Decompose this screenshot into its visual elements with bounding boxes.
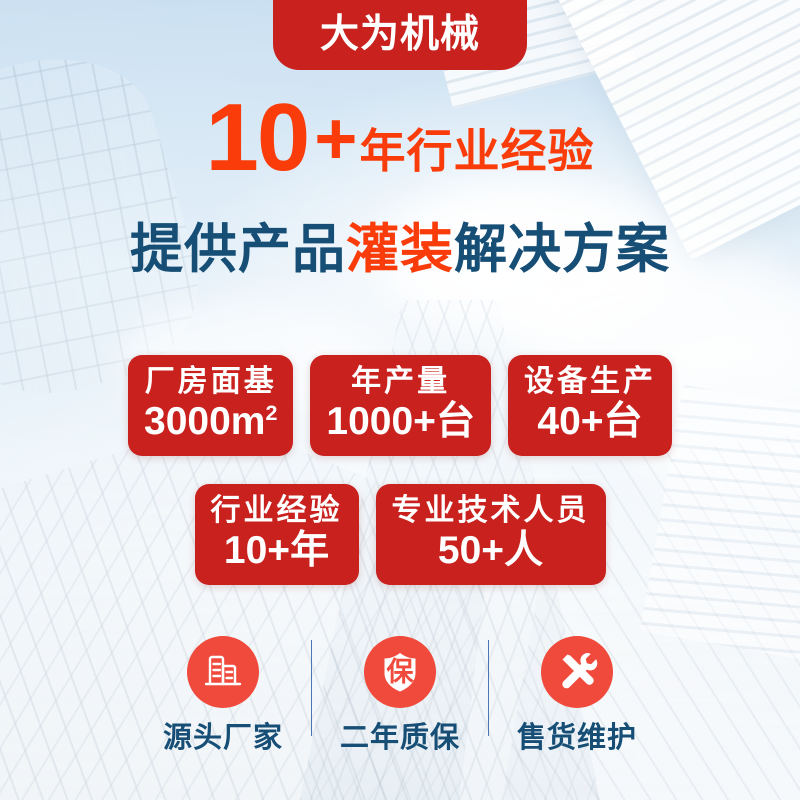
wrench-screwdriver-icon [555,648,599,697]
stat-card-label: 专业技术人员 [392,493,590,528]
stat-card: 设备生产 40+台 [508,355,672,456]
subtitle-accent: 灌装 [346,220,454,279]
shield-character: 保 [387,659,414,686]
headline: 10 + 年行业经验 [0,96,800,180]
feature-icon-circle [187,636,259,708]
feature-divider [488,640,489,736]
feature-divider [311,640,312,736]
stat-card-value: 40+台 [524,400,656,444]
stat-card-label: 设备生产 [524,364,656,399]
subtitle-before: 提供产品 [130,220,346,279]
stat-card: 厂房面基 3000m2 [128,355,293,456]
feature-label: 二年质保 [312,724,488,753]
feature-list: 源头厂家 保 二年质保 [0,636,800,753]
feature-label: 售货维护 [489,724,665,753]
stat-card-value: 10+年 [211,529,343,573]
stat-card: 行业经验 10+年 [195,484,359,585]
stat-card-value: 1000+台 [326,400,475,444]
headline-suffix: 年行业经验 [360,128,595,174]
subtitle-after: 解决方案 [454,220,670,279]
stat-card-label: 年产量 [326,364,475,399]
promo-banner: 大为机械 10 + 年行业经验 提供产品灌装解决方案 厂房面基 3000m2 年… [0,0,800,800]
headline-plus-sign: + [314,102,357,176]
feature-icon-circle [541,636,613,708]
stat-card: 专业技术人员 50+人 [376,484,606,585]
stat-card-value: 50+人 [392,529,590,573]
headline-number: 10 [206,96,309,180]
stat-card-value-text: 3000m [144,400,265,443]
feature-label: 源头厂家 [135,724,311,753]
shield-warranty-icon: 保 [364,636,436,708]
stat-card: 年产量 1000+台 [310,355,491,456]
feature-icon-circle: 保 [364,636,436,708]
feature-item-source-factory: 源头厂家 [135,636,311,753]
stat-card-label: 厂房面基 [144,364,277,399]
stat-card-value: 3000m2 [144,400,277,444]
stat-card-label: 行业经验 [211,493,343,528]
factory-building-icon [202,650,244,695]
brand-logo-text: 大为机械 [320,15,480,56]
feature-item-after-sales: 售货维护 [489,636,665,753]
feature-item-warranty: 保 二年质保 [312,636,488,753]
stat-card-row-1: 厂房面基 3000m2 年产量 1000+台 设备生产 40+台 [0,355,800,456]
brand-logo-badge: 大为机械 [273,0,527,70]
page-title: 提供产品灌装解决方案 [0,222,800,278]
stat-card-row-2: 行业经验 10+年 专业技术人员 50+人 [0,484,800,585]
stat-card-value-superscript: 2 [265,401,277,425]
